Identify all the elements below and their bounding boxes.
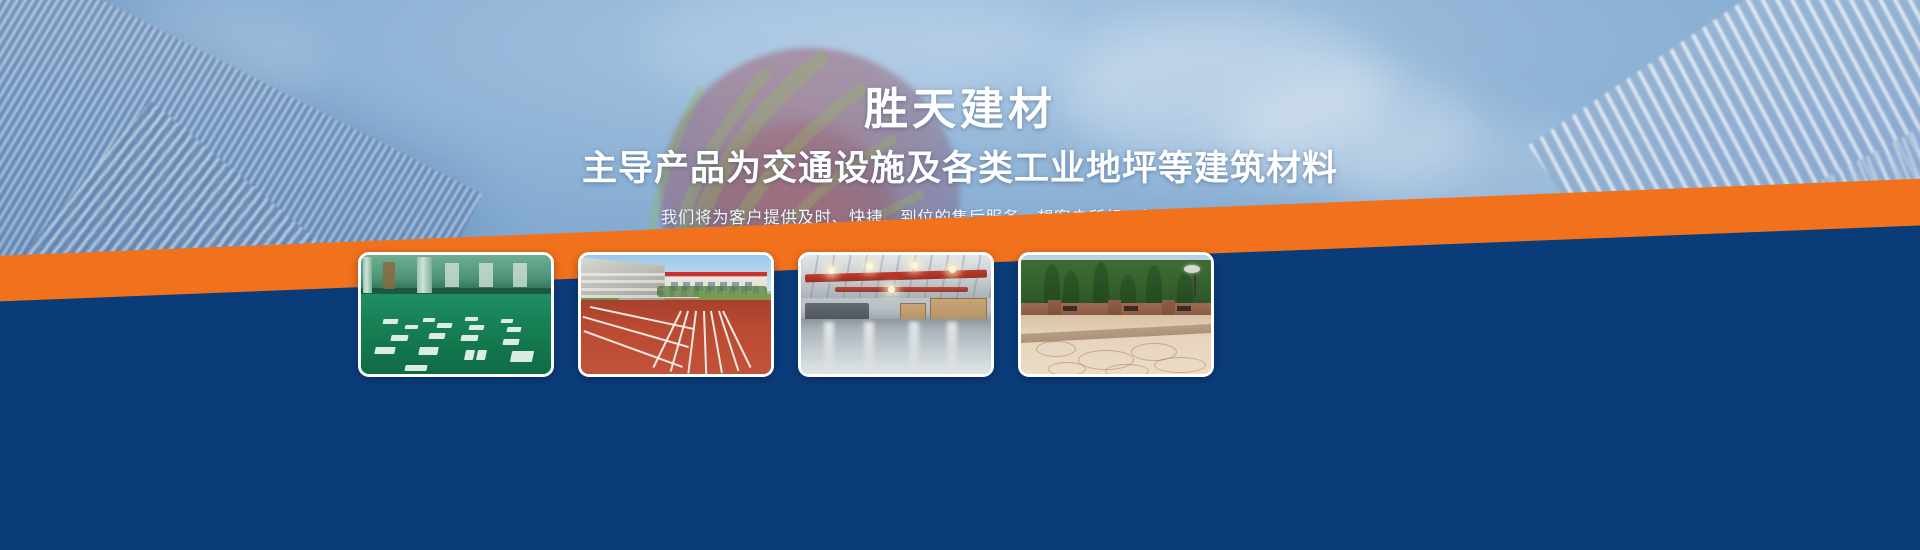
banner-root: 胜天建材 主导产品为交通设施及各类工业地坪等建筑材料 我们将为客户提供及时、快捷… <box>0 0 1920 550</box>
banner-title: 胜天建材 <box>864 88 1056 132</box>
thumbnail-stamped-concrete-plaza[interactable] <box>1018 252 1214 377</box>
thumbnail-industrial-warehouse-floor[interactable] <box>798 252 994 377</box>
banner-subtitle: 主导产品为交通设施及各类工业地坪等建筑材料 <box>582 151 1338 186</box>
thumbnail-green-epoxy-floor[interactable] <box>358 252 554 377</box>
thumbnail-strip <box>358 252 1214 377</box>
thumbnail-red-running-track[interactable] <box>578 252 774 377</box>
